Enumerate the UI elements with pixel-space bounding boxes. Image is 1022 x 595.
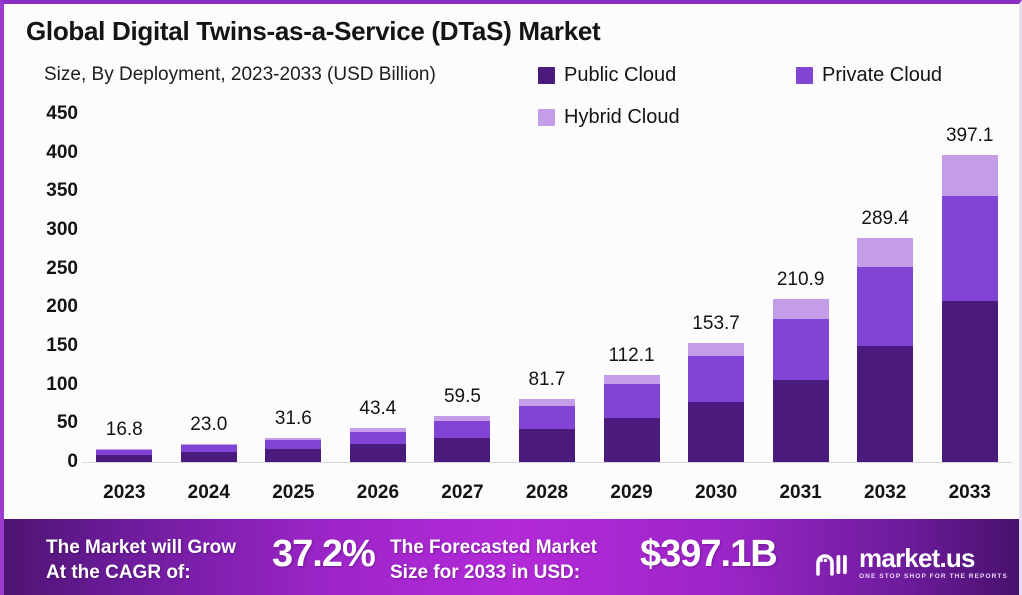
bar-segment-private-cloud[interactable] [773, 319, 829, 380]
bar-group[interactable]: 59.52027 [420, 4, 505, 523]
bar-segment-hybrid-cloud[interactable] [773, 299, 829, 319]
bar-group[interactable]: 112.12029 [589, 4, 674, 523]
bar-segment-hybrid-cloud[interactable] [604, 375, 660, 384]
bar-segment-private-cloud[interactable] [519, 406, 575, 429]
x-axis-tick: 2023 [103, 482, 145, 504]
bar-group[interactable]: 289.42032 [843, 4, 928, 523]
bar-value-label: 23.0 [190, 414, 227, 436]
bar-group[interactable]: 153.72030 [674, 4, 759, 523]
forecast-label-line2: Size for 2033 in USD: [390, 560, 597, 585]
bar-segment-hybrid-cloud[interactable] [519, 399, 575, 406]
x-axis-tick: 2028 [526, 482, 568, 504]
bar-segment-private-cloud[interactable] [688, 356, 744, 402]
bar-group[interactable]: 81.72028 [505, 4, 590, 523]
y-axis-tick: 0 [67, 451, 78, 473]
bar-segment-public-cloud[interactable] [519, 429, 575, 462]
y-axis-tick: 150 [46, 335, 78, 357]
y-axis-tick: 50 [57, 412, 78, 434]
stacked-bar[interactable] [857, 238, 913, 462]
x-axis-tick: 2030 [695, 482, 737, 504]
stacked-bar[interactable] [181, 444, 237, 462]
y-axis-tick: 400 [46, 142, 78, 164]
x-axis-tick: 2027 [441, 482, 483, 504]
cagr-label: The Market will Grow At the CAGR of: [46, 535, 236, 585]
x-axis-tick: 2033 [949, 482, 991, 504]
bar-segment-public-cloud[interactable] [181, 452, 237, 462]
chart-infographic: Global Digital Twins-as-a-Service (DTaS)… [0, 0, 1022, 595]
forecast-label-line1: The Forecasted Market [390, 535, 597, 560]
x-axis-tick: 2029 [610, 482, 652, 504]
bar-segment-hybrid-cloud[interactable] [688, 343, 744, 356]
bar-segment-hybrid-cloud[interactable] [942, 155, 998, 196]
stacked-bar[interactable] [773, 299, 829, 462]
x-axis-tick: 2031 [779, 482, 821, 504]
bar-segment-private-cloud[interactable] [350, 432, 406, 444]
bar-value-label: 112.1 [608, 345, 654, 367]
bar-value-label: 81.7 [528, 369, 565, 391]
stacked-bar[interactable] [604, 375, 660, 462]
y-axis-tick: 300 [46, 219, 78, 241]
bar-segment-private-cloud[interactable] [604, 384, 660, 417]
y-axis-tick: 450 [46, 103, 78, 125]
bar-value-label: 210.9 [777, 269, 825, 291]
plot-area: 050100150200250300350400450 16.8202323.0… [4, 4, 1022, 523]
bar-value-label: 289.4 [861, 208, 909, 230]
bar-segment-public-cloud[interactable] [265, 449, 321, 462]
y-axis-tick: 200 [46, 296, 78, 318]
x-axis-tick: 2025 [272, 482, 314, 504]
bar-segment-hybrid-cloud[interactable] [857, 238, 913, 267]
bar-value-label: 59.5 [444, 386, 481, 408]
bar-segment-private-cloud[interactable] [942, 196, 998, 302]
cagr-value: 37.2% [272, 533, 375, 576]
market-us-logo-icon [816, 550, 850, 576]
y-axis: 050100150200250300350400450 [16, 4, 78, 523]
market-us-logo[interactable]: market.us ONE STOP SHOP FOR THE REPORTS [816, 545, 1008, 581]
logo-tagline: ONE STOP SHOP FOR THE REPORTS [859, 574, 1008, 581]
bar-value-label: 43.4 [359, 398, 396, 420]
bar-value-label: 16.8 [106, 419, 143, 441]
bar-segment-private-cloud[interactable] [265, 440, 321, 449]
bar-group[interactable]: 397.12033 [927, 4, 1012, 523]
x-axis-tick: 2032 [864, 482, 906, 504]
cagr-label-line2: At the CAGR of: [46, 560, 236, 585]
bar-segment-public-cloud[interactable] [688, 402, 744, 462]
y-axis-tick: 250 [46, 258, 78, 280]
cagr-label-line1: The Market will Grow [46, 535, 236, 560]
forecast-label: The Forecasted Market Size for 2033 in U… [390, 535, 597, 585]
bar-group[interactable]: 16.82023 [82, 4, 167, 523]
y-axis-tick: 100 [46, 374, 78, 396]
bar-segment-public-cloud[interactable] [434, 438, 490, 462]
bar-value-label: 31.6 [275, 408, 312, 430]
bar-segment-public-cloud[interactable] [942, 301, 998, 462]
bar-group[interactable]: 43.42026 [336, 4, 421, 523]
bar-segment-public-cloud[interactable] [604, 418, 660, 462]
x-axis-tick: 2026 [357, 482, 399, 504]
stacked-bar[interactable] [350, 428, 406, 462]
bar-value-label: 397.1 [946, 125, 994, 147]
logo-wordmark: market.us [859, 545, 1008, 571]
bar-group[interactable]: 210.92031 [758, 4, 843, 523]
stacked-bar[interactable] [519, 399, 575, 462]
stacked-bar[interactable] [96, 449, 152, 462]
bar-segment-private-cloud[interactable] [434, 421, 490, 438]
stacked-bar[interactable] [265, 438, 321, 462]
bar-series-container: 16.8202323.0202431.6202543.4202659.52027… [82, 4, 1012, 523]
stacked-bar[interactable] [942, 155, 998, 462]
bar-segment-public-cloud[interactable] [96, 455, 152, 462]
bar-value-label: 153.7 [692, 313, 740, 335]
forecast-value: $397.1B [640, 533, 777, 576]
bar-segment-public-cloud[interactable] [350, 444, 406, 462]
bar-group[interactable]: 31.62025 [251, 4, 336, 523]
x-axis-tick: 2024 [188, 482, 230, 504]
y-axis-tick: 350 [46, 180, 78, 202]
bar-segment-private-cloud[interactable] [857, 267, 913, 346]
stacked-bar[interactable] [434, 416, 490, 462]
bar-segment-public-cloud[interactable] [857, 346, 913, 462]
stacked-bar[interactable] [688, 343, 744, 462]
bar-segment-private-cloud[interactable] [181, 445, 237, 452]
bar-segment-public-cloud[interactable] [773, 380, 829, 462]
bar-group[interactable]: 23.02024 [167, 4, 252, 523]
footer-banner: The Market will Grow At the CAGR of: 37.… [4, 519, 1022, 595]
